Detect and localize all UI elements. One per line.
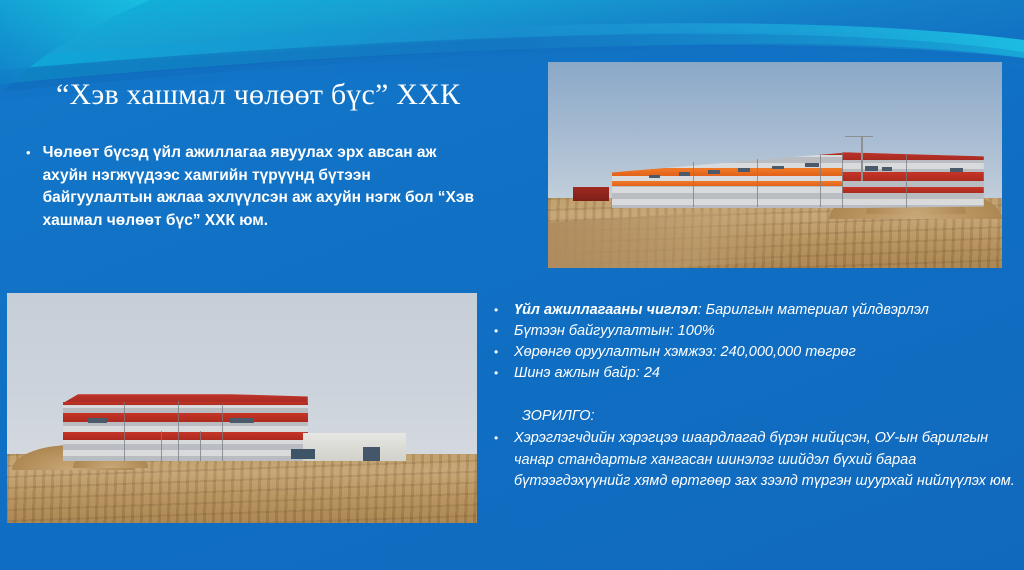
top-right-warehouse-photo (548, 62, 1002, 268)
bullet-marker-icon: • (494, 300, 500, 321)
fact-value: Хөрөнгө оруулалтын хэмжээ: 240,000,000 т… (514, 342, 856, 363)
fact-item: • Шинэ ажлын байр: 24 (494, 363, 1018, 384)
bullet-marker-icon: • (494, 342, 500, 363)
fact-value: : Барилгын материал үйлдвэрлэл (698, 302, 929, 318)
presentation-slide: “Хэв хашмал чөлөөт бүс” ХХК • Чөлөөт бүс… (0, 0, 1024, 570)
fact-value: Шинэ ажлын байр: 24 (514, 363, 660, 384)
fact-label: Үйл ажиллагааны чиглэл (514, 302, 698, 318)
red-truck-object (573, 187, 609, 201)
goal-text: Хэрэглэгчдийн хэрэгцээ шаардлагад бүрэн … (514, 428, 1018, 493)
bottom-left-warehouse-photo (7, 293, 477, 523)
goal-heading: ЗОРИЛГО: (522, 406, 1018, 427)
fact-text: Үйл ажиллагааны чиглэл: Барилгын материа… (514, 300, 929, 321)
left-body-text: Чөлөөт бүсэд үйл ажиллагаа явуулах эрх а… (43, 142, 474, 232)
fact-item: • Хөрөнгө оруулалтын хэмжээ: 240,000,000… (494, 342, 1018, 363)
fact-value: Бүтээн байгуулалтын: 100% (514, 321, 715, 342)
right-content-column: • Үйл ажиллагааны чиглэл: Барилгын матер… (494, 300, 1018, 493)
left-body-bullet: • Чөлөөт бүсэд үйл ажиллагаа явуулах эрх… (24, 142, 474, 232)
parked-vehicle-object (291, 449, 315, 458)
fact-item: • Үйл ажиллагааны чиглэл: Барилгын матер… (494, 300, 1018, 321)
antenna-pole-object (861, 136, 863, 181)
fact-item: • Бүтээн байгуулалтын: 100% (494, 321, 1018, 342)
slide-title: “Хэв хашмал чөлөөт бүс” ХХК (56, 78, 460, 112)
bullet-marker-icon: • (494, 321, 500, 342)
warehouse-building-shape (63, 394, 307, 461)
bullet-marker-icon: • (494, 363, 500, 384)
white-annex-building-shape (303, 433, 406, 461)
bullet-marker-icon: • (494, 428, 500, 449)
warehouse-building-shape (612, 151, 984, 209)
goal-item: • Хэрэглэгчдийн хэрэгцээ шаардлагад бүрэ… (494, 428, 1018, 493)
bullet-marker-icon: • (24, 142, 31, 232)
